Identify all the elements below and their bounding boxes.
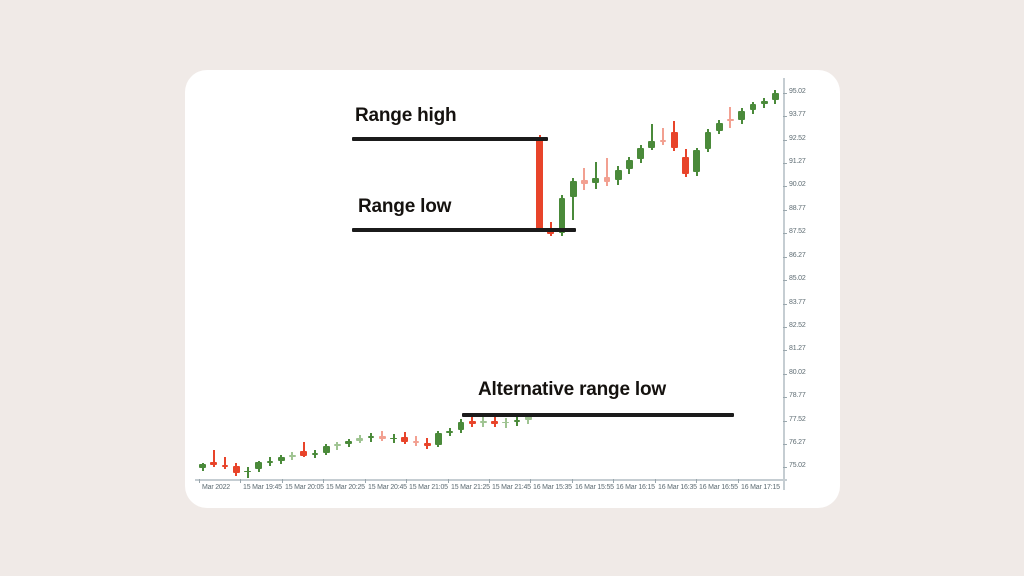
- x-tick-label: 16 Mar 17:15: [741, 484, 780, 491]
- y-tick-label: 92.52: [789, 135, 806, 142]
- candle-body: [255, 462, 262, 469]
- x-tick-label: 16 Mar 15:55: [575, 484, 614, 491]
- candle-body: [604, 177, 611, 182]
- x-tick-mark: [572, 479, 573, 483]
- candle-body: [244, 471, 251, 473]
- candle-body: [637, 148, 644, 158]
- candle-body: [401, 437, 408, 442]
- y-tick-label: 81.27: [789, 345, 806, 352]
- candlestick: [648, 124, 655, 150]
- x-tick-mark: [323, 479, 324, 483]
- candlestick: [289, 452, 296, 460]
- candlestick: [671, 121, 678, 151]
- candle-body: [446, 431, 453, 433]
- candlestick: [345, 439, 352, 447]
- y-tick-label: 95.02: [789, 88, 806, 95]
- candlestick: [244, 467, 251, 478]
- candlestick: [536, 135, 543, 231]
- candlestick: [502, 418, 509, 428]
- candlestick: [660, 128, 667, 145]
- x-tick-label: 16 Mar 15:35: [533, 484, 572, 491]
- x-tick-mark: [696, 479, 697, 483]
- x-tick-mark: [282, 479, 283, 483]
- x-tick-label: 15 Mar 19:45: [243, 484, 282, 491]
- candlestick: [210, 450, 217, 467]
- candlestick: [604, 158, 611, 186]
- candle-body: [424, 443, 431, 446]
- candlestick: [222, 457, 229, 468]
- candle-body: [626, 160, 633, 169]
- candle-body: [682, 157, 689, 174]
- range-label: Range high: [355, 105, 456, 127]
- candle-body: [570, 181, 577, 197]
- y-tick-label: 93.77: [789, 111, 806, 118]
- candle-body: [289, 455, 296, 457]
- candle-body: [772, 93, 779, 100]
- screenshot-root: 95.0293.7792.5291.2790.0288.7787.5286.27…: [0, 0, 1024, 576]
- y-tick-mark: [783, 421, 787, 422]
- candlestick: [637, 145, 644, 164]
- candle-body: [312, 453, 319, 455]
- candlestick: [233, 463, 240, 476]
- candle-wick: [505, 418, 507, 428]
- candlestick: [750, 102, 757, 114]
- candlestick: [368, 433, 375, 441]
- candle-body: [615, 170, 622, 180]
- candlestick: [592, 162, 599, 189]
- candle-body: [514, 420, 521, 422]
- candle-body: [581, 180, 588, 184]
- candle-body: [222, 465, 229, 467]
- candlestick: [379, 431, 386, 440]
- candle-body: [761, 101, 768, 104]
- range-line: [352, 137, 548, 141]
- y-tick-mark: [783, 280, 787, 281]
- candle-wick: [247, 467, 249, 478]
- x-tick-label: 15 Mar 21:45: [492, 484, 531, 491]
- candlestick: [334, 442, 341, 450]
- x-tick-mark: [530, 479, 531, 483]
- y-axis: 95.0293.7792.5291.2790.0288.7787.5286.27…: [783, 78, 840, 490]
- candlestick: [682, 149, 689, 176]
- candle-body: [356, 438, 363, 441]
- y-tick-mark: [783, 116, 787, 117]
- x-tick-mark: [613, 479, 614, 483]
- candle-body: [210, 462, 217, 465]
- x-tick-mark: [655, 479, 656, 483]
- y-tick-mark: [783, 304, 787, 305]
- candle-body: [671, 132, 678, 148]
- x-tick-mark: [240, 479, 241, 483]
- y-tick-label: 75.02: [789, 462, 806, 469]
- x-tick-label: 15 Mar 21:05: [409, 484, 448, 491]
- candlestick: [356, 435, 363, 443]
- candle-wick: [595, 162, 597, 189]
- y-tick-label: 76.27: [789, 439, 806, 446]
- candle-body: [469, 421, 476, 424]
- candlestick: [581, 168, 588, 190]
- x-tick-label: 16 Mar 16:35: [658, 484, 697, 491]
- y-tick-label: 85.02: [789, 275, 806, 282]
- candle-body: [345, 441, 352, 445]
- x-tick-label: 15 Mar 20:25: [326, 484, 365, 491]
- candlestick: [716, 120, 723, 134]
- candle-body: [300, 451, 307, 456]
- candlestick-plot: [185, 70, 840, 508]
- candle-body: [705, 132, 712, 150]
- candle-body: [368, 436, 375, 438]
- candle-body: [491, 421, 498, 424]
- y-tick-mark: [783, 397, 787, 398]
- candle-body: [648, 141, 655, 148]
- y-tick-mark: [783, 374, 787, 375]
- y-tick-mark: [783, 233, 787, 234]
- candle-body: [750, 104, 757, 110]
- x-tick-mark: [448, 479, 449, 483]
- candle-body: [480, 421, 487, 423]
- candlestick: [727, 107, 734, 128]
- y-tick-label: 87.52: [789, 228, 806, 235]
- x-tick-mark: [199, 479, 200, 483]
- candlestick: [267, 457, 274, 466]
- candle-wick: [729, 107, 731, 128]
- x-tick-label: 16 Mar 16:55: [699, 484, 738, 491]
- x-tick-label: 15 Mar 21:25: [451, 484, 490, 491]
- candlestick: [469, 416, 476, 426]
- x-tick-label: 16 Mar 16:15: [616, 484, 655, 491]
- candle-body: [199, 464, 206, 468]
- candlestick: [300, 442, 307, 457]
- y-tick-label: 80.02: [789, 369, 806, 376]
- candlestick: [615, 166, 622, 185]
- y-tick-mark: [783, 163, 787, 164]
- candlestick: [458, 419, 465, 433]
- candle-wick: [662, 128, 664, 145]
- y-tick-label: 86.27: [789, 252, 806, 259]
- candle-body: [278, 457, 285, 462]
- candle-body: [379, 436, 386, 439]
- x-tick-label: 15 Mar 20:05: [285, 484, 324, 491]
- candle-body: [413, 441, 420, 444]
- candle-body: [435, 433, 442, 445]
- y-tick-mark: [783, 467, 787, 468]
- y-tick-label: 83.77: [789, 299, 806, 306]
- y-tick-mark: [783, 210, 787, 211]
- x-tick-mark: [738, 479, 739, 483]
- candlestick: [390, 434, 397, 443]
- candlestick: [772, 90, 779, 103]
- candlestick: [446, 428, 453, 435]
- y-tick-mark: [783, 257, 787, 258]
- range-label: Alternative range low: [478, 379, 666, 401]
- candlestick: [570, 178, 577, 219]
- candle-wick: [224, 457, 226, 468]
- candlestick: [255, 461, 262, 471]
- candle-body: [233, 466, 240, 473]
- candlestick: [491, 415, 498, 426]
- x-tick-mark: [406, 479, 407, 483]
- candlestick: [401, 432, 408, 444]
- y-tick-label: 91.27: [789, 158, 806, 165]
- range-label: Range low: [358, 196, 451, 218]
- candlestick: [626, 157, 633, 174]
- candlestick: [278, 455, 285, 464]
- candlestick: [424, 438, 431, 449]
- y-tick-mark: [783, 327, 787, 328]
- candle-body: [323, 446, 330, 453]
- candlestick: [435, 431, 442, 447]
- y-tick-mark: [783, 140, 787, 141]
- x-tick-label: 15 Mar 20:45: [368, 484, 407, 491]
- candlestick: [480, 417, 487, 427]
- candlestick: [323, 444, 330, 454]
- y-tick-label: 88.77: [789, 205, 806, 212]
- y-tick-mark: [783, 93, 787, 94]
- candle-body: [592, 178, 599, 183]
- candle-body: [660, 140, 667, 142]
- y-tick-mark: [783, 186, 787, 187]
- x-axis: Mar 202215 Mar 19:4515 Mar 20:0515 Mar 2…: [195, 479, 787, 505]
- y-tick-label: 82.52: [789, 322, 806, 329]
- range-line: [352, 228, 576, 232]
- x-tick-label: Mar 2022: [202, 484, 230, 491]
- candle-body: [536, 139, 543, 230]
- candlestick: [738, 108, 745, 124]
- candlestick: [693, 148, 700, 176]
- y-tick-label: 90.02: [789, 181, 806, 188]
- candlestick: [705, 129, 712, 152]
- y-tick-label: 78.77: [789, 392, 806, 399]
- candle-body: [693, 150, 700, 172]
- candlestick: [761, 98, 768, 108]
- chart-card: 95.0293.7792.5291.2790.0288.7787.5286.27…: [185, 70, 840, 508]
- candle-body: [738, 111, 745, 120]
- candlestick: [413, 436, 420, 446]
- y-tick-mark: [783, 350, 787, 351]
- candle-body: [458, 422, 465, 430]
- y-tick-mark: [783, 444, 787, 445]
- x-tick-mark: [365, 479, 366, 483]
- y-tick-label: 77.52: [789, 416, 806, 423]
- x-tick-mark: [489, 479, 490, 483]
- candle-body: [334, 444, 341, 446]
- candlestick: [312, 450, 319, 458]
- candle-body: [267, 461, 274, 463]
- x-axis-spine: [195, 479, 787, 481]
- candle-body: [716, 123, 723, 130]
- candle-wick: [583, 168, 585, 190]
- candlestick: [199, 463, 206, 470]
- range-line: [462, 413, 734, 417]
